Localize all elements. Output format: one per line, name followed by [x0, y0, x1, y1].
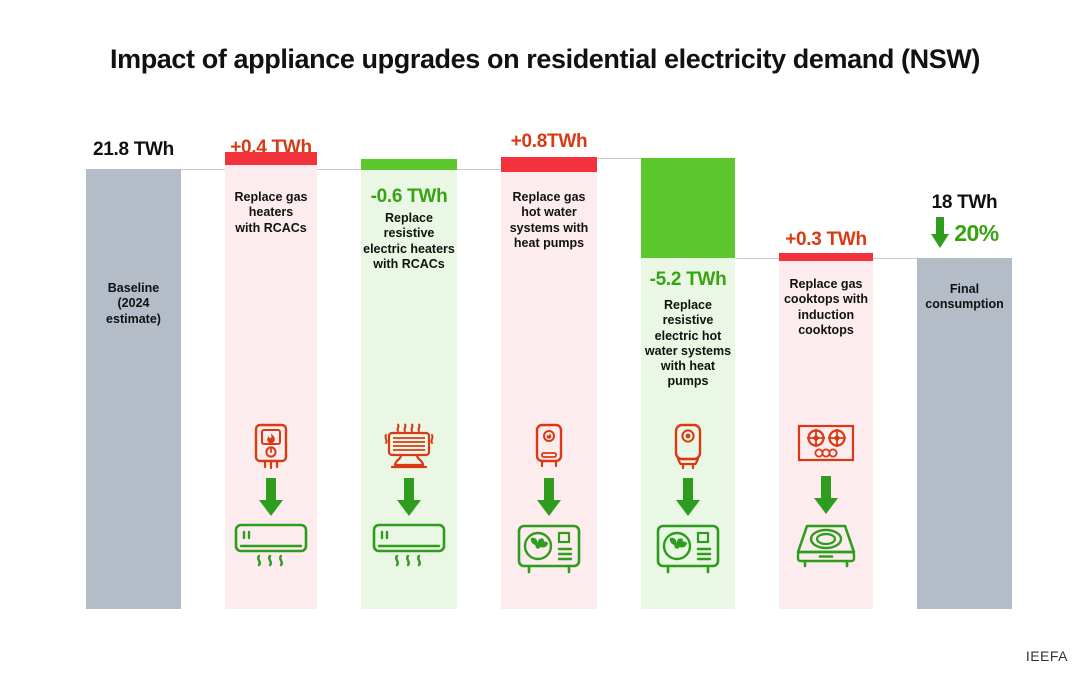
description-line: hot water [499, 205, 599, 220]
down-arrow-icon [673, 476, 703, 518]
description-line: Replace gas [776, 277, 876, 292]
down-arrow-icon [811, 474, 841, 516]
gas-cooktop-icon [795, 422, 857, 470]
increase-cap-bar [501, 157, 597, 172]
baseline-description: Baseline (2024 estimate) [86, 281, 181, 327]
down-arrow-icon [930, 216, 950, 250]
final-value-label: 18 TWh [917, 192, 1012, 214]
baseline-description-line: estimate) [86, 312, 181, 327]
down-arrow-icon [394, 476, 424, 518]
final-consumption-description: Final consumption [912, 282, 1017, 313]
connector-line-1 [181, 169, 225, 170]
description-line: induction [776, 308, 876, 323]
column-description: Replace gas cooktops with induction cook… [776, 277, 876, 338]
connector-line-5 [735, 258, 779, 259]
decrease-cap-bar [641, 158, 735, 258]
icon-group-gas-hot-water-to-heat-pump [501, 422, 597, 578]
column-baseline[interactable] [86, 169, 181, 609]
description-line: consumption [912, 297, 1017, 312]
connector-line-6 [873, 258, 917, 259]
baseline-value-label: 21.8 TWh [86, 139, 181, 161]
gas-hot-water-tank-icon [527, 422, 571, 472]
description-line: with RCACs [359, 257, 459, 272]
column-description: Replace gas hot water systems with heat … [499, 190, 599, 251]
connector-line-4 [597, 158, 641, 159]
column-value-label: +0.4 TWh [225, 137, 317, 159]
decrease-cap-bar [361, 159, 457, 170]
column-value-label: +0.8TWh [501, 131, 597, 153]
description-line: pumps [636, 374, 740, 389]
description-line: heaters [225, 205, 317, 220]
final-drop-percent: 20% [954, 220, 999, 247]
heat-pump-unit-icon [516, 522, 582, 578]
description-line: with heat [636, 359, 740, 374]
ieefa-logo: IEEFA [1026, 648, 1068, 664]
gas-heater-icon [249, 422, 293, 472]
description-line: electric heaters [359, 242, 459, 257]
waterfall-chart: 21.8 TWh Baseline (2024 estimate) +0.4 T… [0, 0, 1090, 692]
description-line: cooktops with [776, 292, 876, 307]
connector-line-2 [317, 169, 361, 170]
baseline-description-line: Baseline [86, 281, 181, 296]
resistive-electric-heater-icon [380, 422, 438, 472]
column-value-label: -5.2 TWh [641, 269, 735, 291]
baseline-description-line: (2024 [86, 296, 181, 311]
description-line: with RCACs [225, 221, 317, 236]
icon-group-resistive-heater-to-rcac [361, 422, 457, 576]
icon-group-gas-heater-to-rcac [225, 422, 317, 576]
icon-group-gas-cooktop-to-induction [779, 422, 873, 572]
column-value-label: +0.3 TWh [777, 229, 875, 251]
description-line: water systems [636, 344, 740, 359]
description-line: cooktops [776, 323, 876, 338]
increase-cap-bar [779, 253, 873, 261]
split-air-conditioner-icon [233, 522, 309, 576]
description-line: heat pumps [499, 236, 599, 251]
heat-pump-unit-icon [655, 522, 721, 578]
electric-hot-water-tank-icon [666, 422, 710, 472]
description-line: resistive [359, 226, 459, 241]
description-line: Replace [636, 298, 740, 313]
column-description: Replace gas heaters with RCACs [225, 190, 317, 236]
description-line: Replace gas [499, 190, 599, 205]
induction-cooktop-icon [793, 520, 859, 572]
description-line: electric hot [636, 329, 740, 344]
split-air-conditioner-icon [371, 522, 447, 576]
description-line: resistive [636, 313, 740, 328]
description-line: Final [912, 282, 1017, 297]
down-arrow-icon [256, 476, 286, 518]
description-line: systems with [499, 221, 599, 236]
final-drop-indicator: 20% [917, 216, 1012, 250]
column-description: Replace resistive electric hot water sys… [636, 298, 740, 390]
column-value-label: -0.6 TWh [361, 186, 457, 208]
down-arrow-icon [534, 476, 564, 518]
column-description: Replace resistive electric heaters with … [359, 211, 459, 272]
description-line: Replace gas [225, 190, 317, 205]
description-line: Replace [359, 211, 459, 226]
baseline-bar [86, 169, 181, 609]
connector-line-3 [457, 169, 501, 170]
icon-group-electric-hot-water-to-heat-pump [641, 422, 735, 578]
